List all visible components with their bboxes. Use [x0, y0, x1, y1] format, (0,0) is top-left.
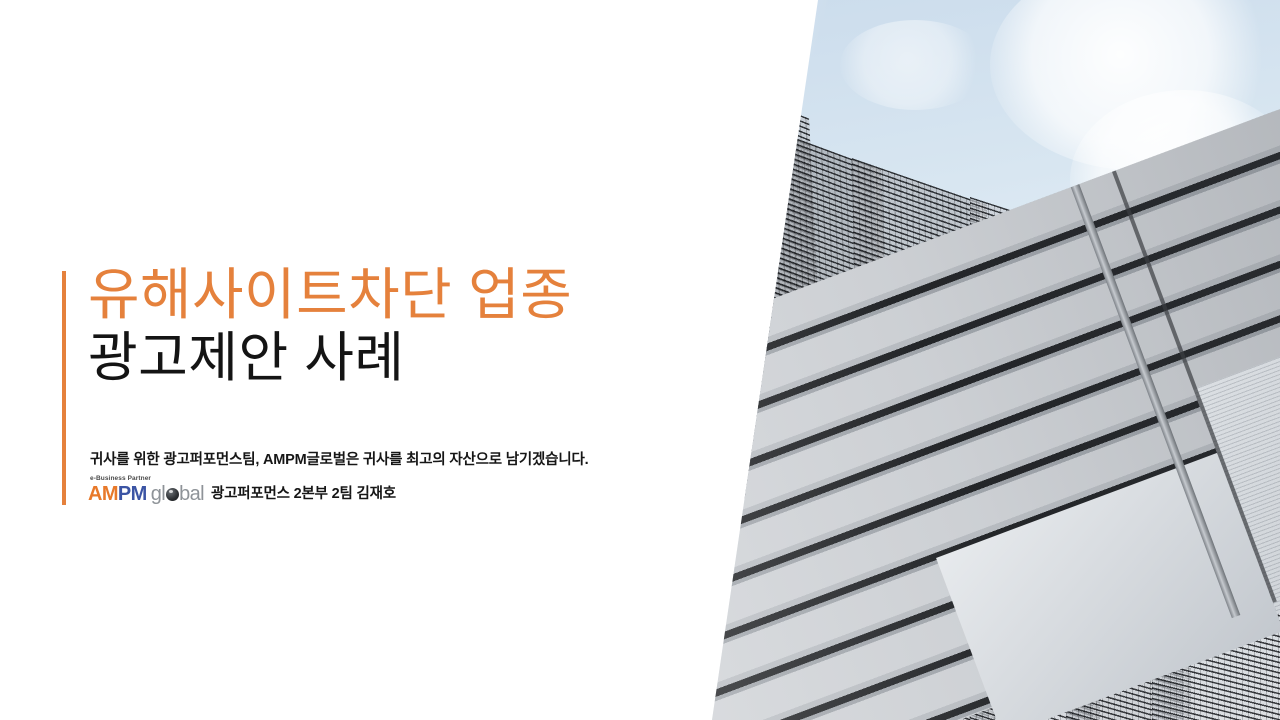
title-slide: 유해사이트차단 업종 광고제안 사례 귀사를 위한 광고퍼포먼스팀, AMPM글… [0, 0, 1280, 720]
presenter-name-text: 광고퍼포먼스 2본부 2팀 김재호 [211, 482, 396, 504]
logo-global-text: gl bal [151, 484, 204, 504]
orange-accent-bar [62, 271, 66, 505]
podium-banded-facade [690, 67, 1280, 720]
logo-tagline: e-Business Partner [90, 476, 204, 483]
logo-wordmark: AMPM gl bal [88, 484, 204, 504]
page-title: 유해사이트차단 업종 광고제안 사례 [88, 262, 708, 390]
logo-global-prefix: gl [151, 484, 165, 504]
title-line-secondary: 광고제안 사례 [88, 326, 708, 390]
logo-am-text: AM [88, 484, 118, 504]
globe-icon [166, 488, 179, 501]
title-line-primary: 유해사이트차단 업종 [88, 262, 708, 328]
presenter-row: e-Business Partner AMPM gl bal 광고퍼포먼스 2본… [88, 474, 396, 504]
hero-photo-panel [690, 0, 1280, 720]
tagline-text: 귀사를 위한 광고퍼포먼스팀, AMPM글로벌은 귀사를 최고의 자산으로 남기… [90, 448, 588, 469]
cloud-shape [840, 20, 990, 110]
ampm-global-logo: e-Business Partner AMPM gl bal [88, 474, 204, 504]
logo-global-suffix: bal [179, 484, 204, 504]
logo-pm-text: PM [118, 484, 147, 504]
skyscraper-photo [690, 0, 1280, 720]
